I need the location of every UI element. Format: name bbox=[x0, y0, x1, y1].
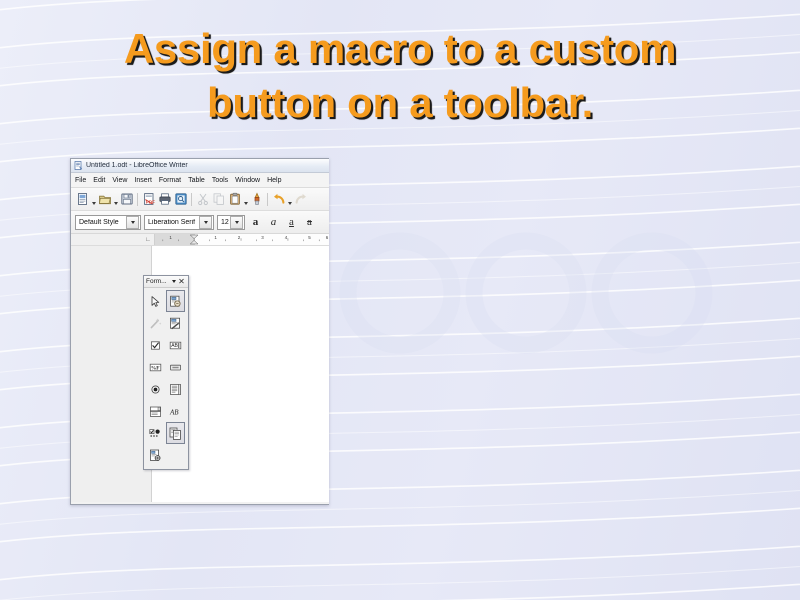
form-controls-toolbar[interactable]: Form... ✕ bbox=[143, 275, 189, 470]
redo-arrow-icon bbox=[293, 192, 308, 207]
ruler-corner-marker: ∟ bbox=[71, 234, 154, 245]
font-name-dropdown-arrow[interactable] bbox=[199, 216, 212, 229]
font-name-combo[interactable]: Liberation Serif bbox=[144, 215, 214, 230]
strikethrough-button[interactable]: a bbox=[302, 215, 317, 230]
label-ab-icon[interactable]: AB bbox=[166, 400, 185, 422]
menu-item-insert[interactable]: Insert bbox=[134, 177, 152, 184]
svg-text:PDF: PDF bbox=[146, 199, 155, 204]
italic-button[interactable]: a bbox=[266, 215, 281, 230]
window-title-text: Untitled 1.odt - LibreOffice Writer bbox=[86, 162, 188, 169]
menu-item-format[interactable]: Format bbox=[159, 177, 181, 184]
writer-document-icon bbox=[74, 161, 83, 170]
radio-button-icon[interactable] bbox=[146, 378, 165, 400]
bold-button[interactable]: a bbox=[248, 215, 263, 230]
push-button-icon[interactable] bbox=[166, 356, 185, 378]
menu-item-tools[interactable]: Tools bbox=[212, 177, 228, 184]
svg-text:3: 3 bbox=[261, 235, 264, 240]
standard-toolbar[interactable]: PDF bbox=[71, 188, 329, 211]
pdf-icon[interactable]: PDF bbox=[141, 192, 156, 207]
menu-bar[interactable]: File Edit View Insert Format Table Tools… bbox=[71, 173, 329, 188]
svg-text:1: 1 bbox=[169, 235, 172, 240]
background-watermark bbox=[330, 205, 750, 375]
svg-text:AB: AB bbox=[171, 343, 178, 349]
svg-text:6: 6 bbox=[326, 235, 329, 240]
window-titlebar[interactable]: Untitled 1.odt - LibreOffice Writer bbox=[71, 159, 329, 173]
clipboard-icon[interactable] bbox=[227, 192, 242, 207]
font-name-value: Liberation Serif bbox=[145, 219, 199, 226]
toolbar-separator bbox=[137, 193, 138, 206]
toolbar-separator bbox=[191, 193, 192, 206]
svg-text:4: 4 bbox=[285, 235, 288, 240]
menu-item-window[interactable]: Window bbox=[235, 177, 260, 184]
paragraph-style-value: Default Style bbox=[76, 219, 126, 226]
menu-item-edit[interactable]: Edit bbox=[93, 177, 105, 184]
open-folder-icon[interactable] bbox=[97, 192, 112, 207]
svg-text:1: 1 bbox=[214, 235, 217, 240]
form-toolbar-empty-slot bbox=[166, 444, 185, 466]
copy-icon bbox=[211, 192, 226, 207]
printer-icon[interactable] bbox=[157, 192, 172, 207]
font-size-dropdown-arrow[interactable] bbox=[230, 216, 243, 229]
paragraph-style-dropdown-arrow[interactable] bbox=[126, 216, 139, 229]
slide-canvas: Assign a macro to a custom button on a t… bbox=[0, 0, 800, 600]
new-icon[interactable] bbox=[75, 192, 90, 207]
paragraph-style-combo[interactable]: Default Style bbox=[75, 215, 141, 230]
form-toolbar-header[interactable]: Form... ✕ bbox=[144, 276, 188, 288]
menu-item-file[interactable]: File bbox=[75, 177, 86, 184]
svg-text:AB: AB bbox=[169, 408, 179, 416]
form-toolbar-title: Form... bbox=[146, 278, 170, 285]
design-mode-icon[interactable] bbox=[166, 290, 185, 312]
libreoffice-writer-window[interactable]: Untitled 1.odt - LibreOffice Writer File… bbox=[70, 158, 329, 505]
menu-item-table[interactable]: Table bbox=[188, 177, 205, 184]
menu-item-help[interactable]: Help bbox=[267, 177, 281, 184]
paintbrush-icon[interactable] bbox=[249, 192, 264, 207]
list-box-icon[interactable] bbox=[166, 378, 185, 400]
magic-wand-icon bbox=[146, 312, 165, 334]
document-body bbox=[71, 246, 329, 502]
close-icon[interactable]: ✕ bbox=[177, 277, 186, 286]
more-controls-icon[interactable] bbox=[146, 422, 165, 444]
form-controls-grid: AB %F bbox=[144, 288, 188, 469]
paste-dropdown-arrow[interactable] bbox=[243, 190, 248, 208]
ruler-row: ∟ 1 1 2 3 4 5 6 bbox=[71, 234, 329, 246]
svg-text:5: 5 bbox=[308, 235, 311, 240]
form-documents-icon[interactable] bbox=[166, 422, 185, 444]
font-size-value: 12 bbox=[218, 219, 230, 226]
font-size-combo[interactable]: 12 bbox=[217, 215, 245, 230]
new-dropdown-arrow[interactable] bbox=[91, 190, 96, 208]
scissors-icon bbox=[195, 192, 210, 207]
arrow-cursor-icon[interactable] bbox=[146, 290, 165, 312]
left-margin-pane bbox=[71, 246, 152, 502]
chevron-down-icon[interactable] bbox=[170, 277, 177, 286]
toolbar-separator bbox=[267, 193, 268, 206]
menu-item-view[interactable]: View bbox=[112, 177, 127, 184]
check-box-icon[interactable] bbox=[146, 334, 165, 356]
combo-box-icon[interactable] bbox=[146, 400, 165, 422]
print-preview-icon[interactable] bbox=[173, 192, 188, 207]
formatted-field-icon[interactable]: %F bbox=[146, 356, 165, 378]
text-box-abc-icon[interactable]: AB bbox=[166, 334, 185, 356]
svg-text:%F: %F bbox=[151, 365, 159, 371]
formatting-toolbar[interactable]: Default Style Liberation Serif 12 a a a … bbox=[71, 211, 329, 234]
open-dropdown-arrow[interactable] bbox=[113, 190, 118, 208]
undo-arrow-icon[interactable] bbox=[271, 192, 286, 207]
underline-button[interactable]: a bbox=[284, 215, 299, 230]
form-design-icon[interactable] bbox=[166, 312, 185, 334]
floppy-disk-icon[interactable] bbox=[119, 192, 134, 207]
undo-dropdown-arrow[interactable] bbox=[287, 190, 292, 208]
control-properties-icon[interactable] bbox=[146, 444, 165, 466]
slide-title: Assign a macro to a custom button on a t… bbox=[40, 22, 760, 130]
horizontal-ruler[interactable]: 1 1 2 3 4 5 6 bbox=[154, 234, 329, 245]
svg-text:2: 2 bbox=[238, 235, 241, 240]
